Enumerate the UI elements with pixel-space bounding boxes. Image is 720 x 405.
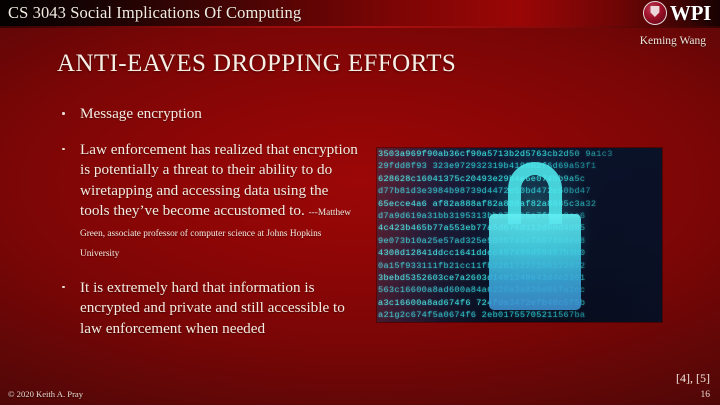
- wpi-logo: WPI: [643, 1, 711, 25]
- wpi-wordmark: WPI: [670, 2, 711, 24]
- page-number: 16: [701, 390, 711, 400]
- presenter-name: Keming Wang: [640, 35, 706, 47]
- copyright-notice: © 2020 Keith A. Pray: [8, 389, 83, 399]
- padlock-body: [489, 214, 581, 310]
- list-item: Law enforcement has realized that encryp…: [58, 140, 358, 263]
- bullet-dot-icon: [62, 286, 65, 289]
- list-item: Message encryption: [58, 104, 358, 125]
- wpi-seal-icon: [643, 1, 667, 25]
- padlock-icon: [489, 162, 581, 312]
- image-left-tint: [377, 148, 492, 322]
- bullet-dot-icon: [62, 112, 65, 115]
- bullet-dot-icon: [62, 148, 65, 151]
- reference-citations: [4], [5]: [676, 371, 710, 386]
- presentation-slide: CS 3043 Social Implications Of Computing…: [0, 0, 720, 405]
- list-item-text: It is extremely hard that information is…: [80, 279, 345, 337]
- list-item-text: Message encryption: [80, 105, 202, 122]
- course-title: CS 3043 Social Implications Of Computing: [8, 3, 301, 23]
- page-title: ANTI-EAVES DROPPING EFFORTS: [57, 50, 456, 78]
- list-item: It is extremely hard that information is…: [58, 278, 358, 340]
- padlock-over-hex-code-image: 3503a969f90ab36cf90a5713b2d5763cb2d50 9a…: [377, 148, 662, 322]
- header-underline: [0, 26, 720, 28]
- bullet-list: Message encryption Law enforcement has r…: [58, 104, 358, 354]
